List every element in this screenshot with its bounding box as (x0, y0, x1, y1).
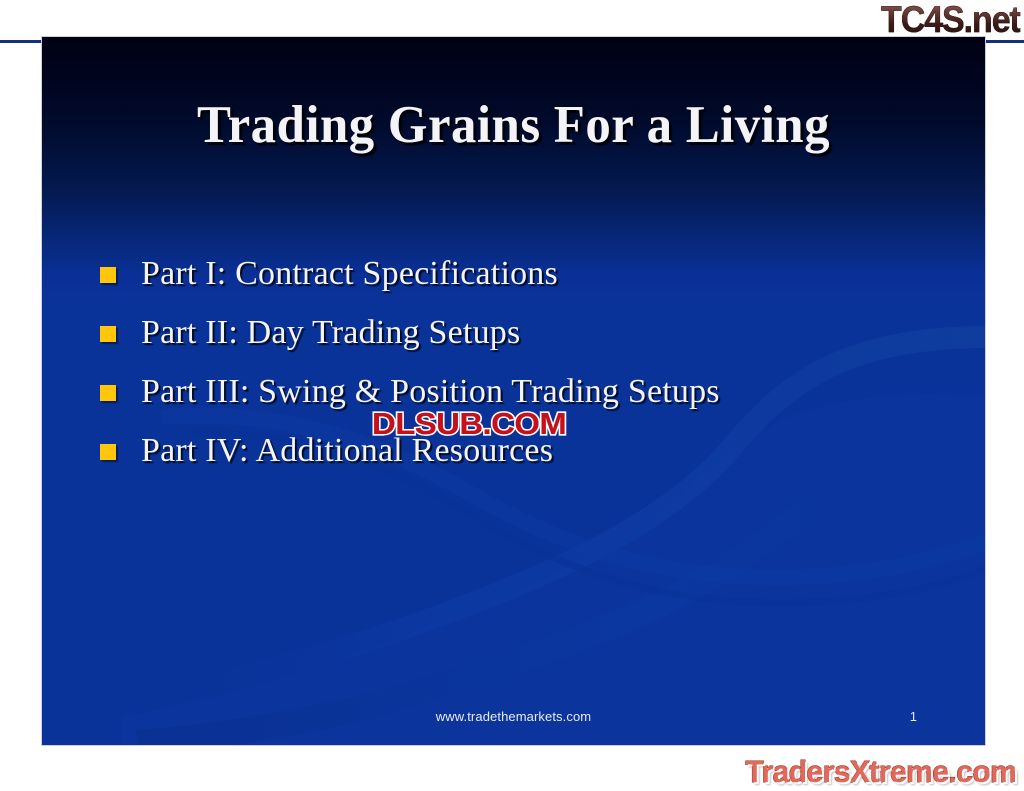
page-canvas: TC4S.net Trad (0, 0, 1024, 791)
tradersxtreme-brand-watermark: TradersXtreme.com (745, 756, 1016, 787)
presentation-slide: Trading Grains For a Living Part I: Cont… (42, 37, 985, 745)
list-item-label: Part I: Contract Specifications (141, 252, 960, 296)
dlsub-overlay-watermark: DLSUB.COM (372, 408, 566, 439)
list-item: Part I: Contract Specifications (100, 252, 960, 311)
slide-bullet-list: Part I: Contract Specifications Part II:… (100, 252, 960, 488)
list-item-label: Part II: Day Trading Setups (141, 311, 960, 355)
square-bullet-icon (100, 385, 116, 401)
square-bullet-icon (100, 326, 116, 342)
square-bullet-icon (100, 444, 116, 460)
tc4s-site-watermark: TC4S.net (881, 1, 1020, 38)
list-item: Part II: Day Trading Setups (100, 311, 960, 370)
slide-title: Trading Grains For a Living (61, 95, 966, 155)
square-bullet-icon (100, 267, 116, 283)
slide-page-number: 1 (910, 709, 917, 724)
slide-footer-url: www.tradethemarkets.com (42, 709, 985, 724)
